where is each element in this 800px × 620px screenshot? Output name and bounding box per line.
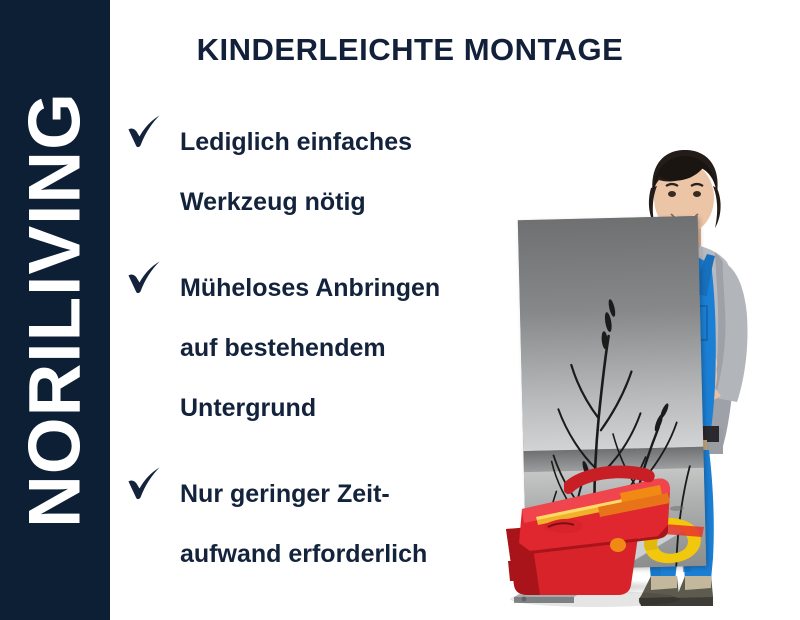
list-item: Müheloses Anbringen auf bestehendem Unte… xyxy=(126,258,516,438)
check-mark-icon xyxy=(126,466,164,500)
list-item-line: Werkzeug nötig xyxy=(180,172,516,232)
brand-sidebar: NORILIVING xyxy=(0,0,110,620)
list-item: Lediglich einfaches Werkzeug nötig xyxy=(126,112,516,232)
list-item-line: Untergrund xyxy=(180,378,516,438)
page-title: KINDERLEICHTE MONTAGE xyxy=(150,32,670,68)
list-item-line: aufwand erforderlich xyxy=(180,524,516,584)
poster-canvas: NORILIVING KINDERLEICHTE MONTAGE Ledigli… xyxy=(0,0,800,620)
list-item-line: Müheloses Anbringen xyxy=(180,258,516,318)
list-item: Nur geringer Zeit- aufwand erforderlich xyxy=(126,464,516,584)
toolbox-and-saw xyxy=(500,465,715,610)
check-mark-icon xyxy=(126,260,164,294)
benefits-list: Lediglich einfaches Werkzeug nötig Mühel… xyxy=(126,112,516,584)
brand-logo-text: NORILIVING xyxy=(19,92,92,528)
product-photo xyxy=(495,110,800,610)
check-mark-icon xyxy=(126,114,164,148)
list-item-line: auf bestehendem xyxy=(180,318,516,378)
list-item-line: Lediglich einfaches xyxy=(180,112,516,172)
list-item-line: Nur geringer Zeit- xyxy=(180,464,516,524)
